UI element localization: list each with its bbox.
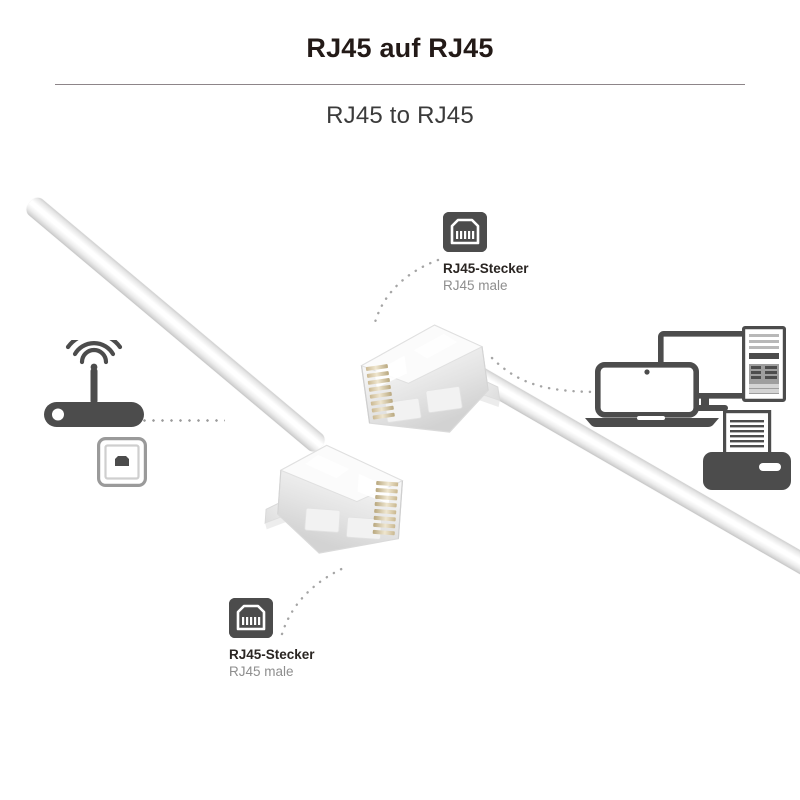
label-block-rj45-top: RJ45-Stecker RJ45 male [443,212,529,293]
dotted-link-router-to-cable [140,419,225,422]
pc-tower-icon [742,326,786,402]
rj45-port-icon [443,212,487,252]
page-title-en: RJ45 to RJ45 [0,102,800,130]
header: RJ45 auf RJ45 RJ45 to RJ45 [0,0,800,150]
page-title-de: RJ45 auf RJ45 [0,33,800,64]
printer-icon [703,410,791,492]
rj45-port-icon [229,598,273,638]
label-subtitle: RJ45 male [229,664,315,679]
laptop-icon [585,362,719,428]
label-subtitle: RJ45 male [443,278,529,293]
wifi-router-icon [44,340,144,432]
network-wall-socket-icon [97,437,147,487]
dotted-link-label-top-to-plug [366,258,446,338]
header-divider [55,84,745,85]
label-title: RJ45-Stecker [443,261,529,276]
label-block-rj45-bottom: RJ45-Stecker RJ45 male [229,598,315,679]
product-infographic: RJ45 auf RJ45 RJ45 to RJ45 [0,0,800,800]
label-title: RJ45-Stecker [229,647,315,662]
